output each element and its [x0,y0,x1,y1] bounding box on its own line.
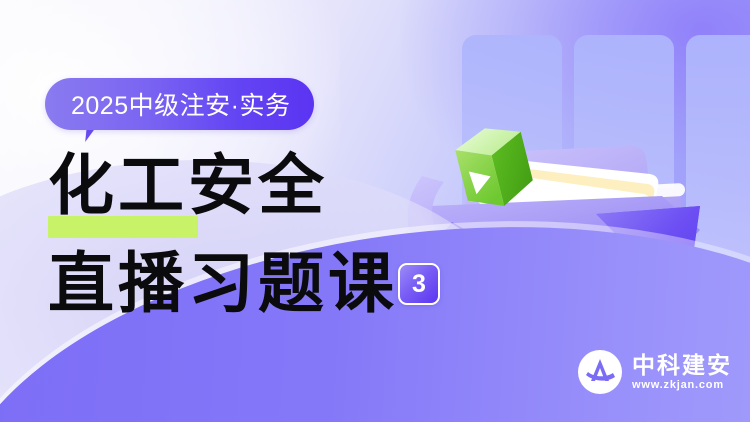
brand-logo-text: 中科建安 www.zkjan.com [632,354,732,391]
background-panel [686,35,750,335]
course-poster: 2025中级注安·实务 化工安全 直播习题课 3 中科建安 www.zkjan.… [0,0,750,422]
folder-front [430,196,700,299]
background-panel [574,35,674,335]
zkjan-circle-mark-icon [578,350,622,394]
episode-number-badge: 3 [398,263,440,305]
play-cube [452,120,537,214]
paper-yellow [487,165,654,226]
paper-white-front [496,174,649,227]
brand-logo: 中科建安 www.zkjan.com [578,350,732,394]
play-triangle-icon [469,167,494,195]
page-title-line-1: 化工安全 [48,152,328,218]
play-cube-side [488,132,537,206]
paper-white-back [476,157,658,227]
background-panel [462,35,562,335]
folder-back [462,146,683,250]
background-top-right-wash [400,0,750,240]
folder-tab-slot [643,183,686,198]
course-category-badge: 2025中级注安·实务 [45,78,314,130]
course-illustration [400,110,750,340]
brand-url: www.zkjan.com [632,380,732,391]
course-category-label: 2025中级注安·实务 [71,86,290,122]
swoosh-arrow-head [596,206,700,306]
play-cube-top [452,120,525,164]
background-panel-stripes [462,35,750,335]
episode-number: 3 [412,272,426,297]
swoosh-arrow-ring [407,176,662,286]
play-cube-front-wide [455,142,504,214]
play-cube-front [455,142,504,214]
brand-name: 中科建安 [632,354,732,377]
swoosh-arrow-sweep [436,206,700,306]
page-title-line-2: 直播习题课 [48,250,398,316]
